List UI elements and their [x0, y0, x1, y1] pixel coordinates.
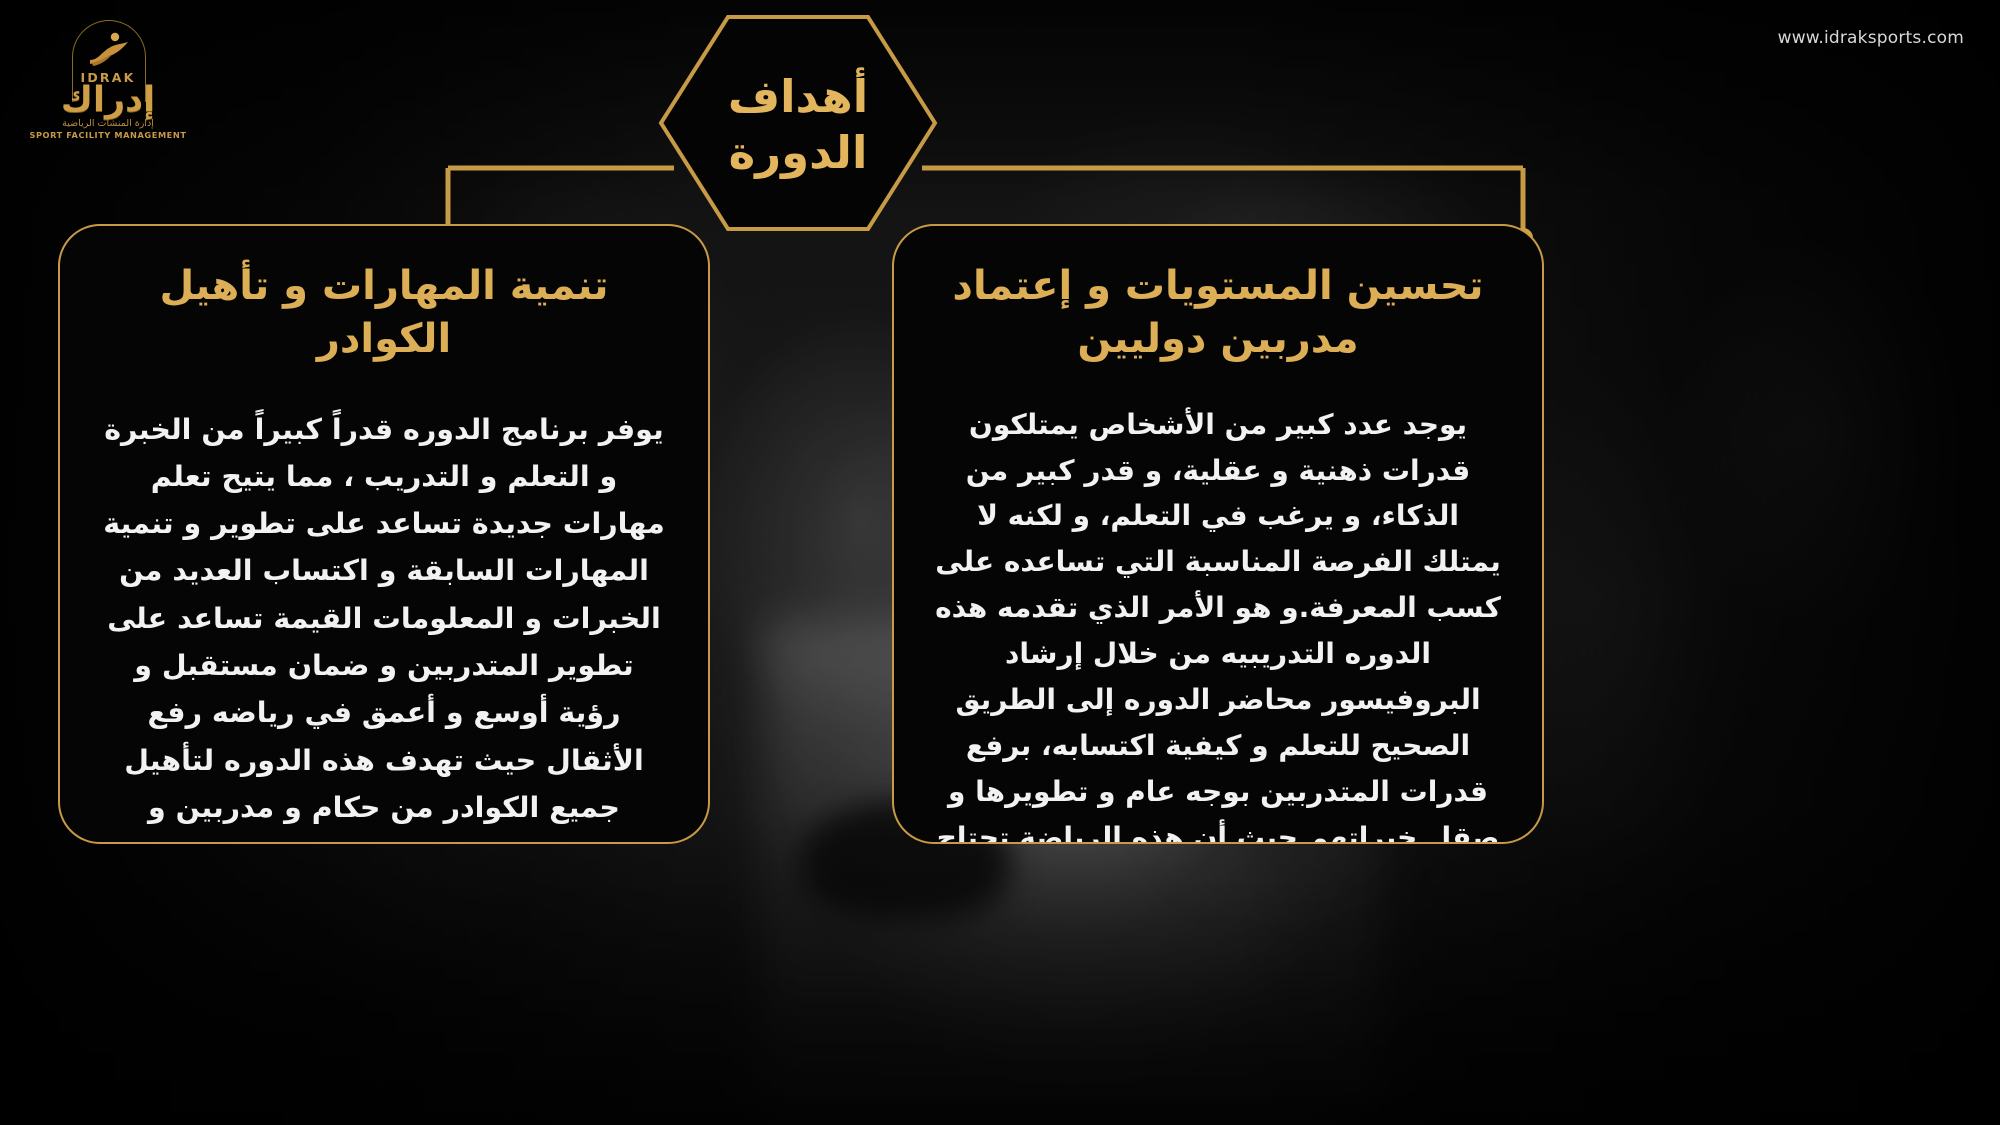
logo-tagline-arabic: إدارة المنشآت الرياضية	[28, 118, 188, 129]
hexagon-title-line1: أهداف	[728, 69, 868, 125]
hexagon-title-line2: الدورة	[729, 125, 868, 181]
brand-logo: IDRAK إدراك إدارة المنشآت الرياضية SPORT…	[28, 18, 188, 136]
objective-card-level-improvement[interactable]: تحسين المستويات و إعتماد مدربين دوليين ي…	[892, 224, 1544, 844]
card-title: تنمية المهارات و تأهيل الكوادر	[100, 260, 668, 366]
hexagon-title: أهداف الدورة	[658, 14, 938, 232]
slide-canvas: IDRAK إدراك إدارة المنشآت الرياضية SPORT…	[0, 0, 2000, 1125]
website-url[interactable]: www.idraksports.com	[1778, 28, 1964, 48]
card-content: تحسين المستويات و إعتماد مدربين دوليين ي…	[894, 226, 1542, 842]
card-content: تنمية المهارات و تأهيل الكوادر يوفر برنا…	[60, 226, 708, 842]
logo-tagline-english: SPORT FACILITY MANAGEMENT	[28, 130, 188, 140]
objective-card-skills-development[interactable]: تنمية المهارات و تأهيل الكوادر يوفر برنا…	[58, 224, 710, 844]
athlete-figure-icon	[84, 30, 134, 70]
hexagon-heading: أهداف الدورة	[658, 14, 938, 232]
card-title: تحسين المستويات و إعتماد مدربين دوليين	[934, 260, 1502, 366]
logo-arabic-text: إدراك	[28, 80, 188, 120]
card-body: يوفر برنامج الدوره قدراً كبيراً من الخبر…	[100, 406, 668, 844]
card-body: يوجد عدد كبير من الأشخاص يمتلكون قدرات ذ…	[934, 402, 1502, 844]
